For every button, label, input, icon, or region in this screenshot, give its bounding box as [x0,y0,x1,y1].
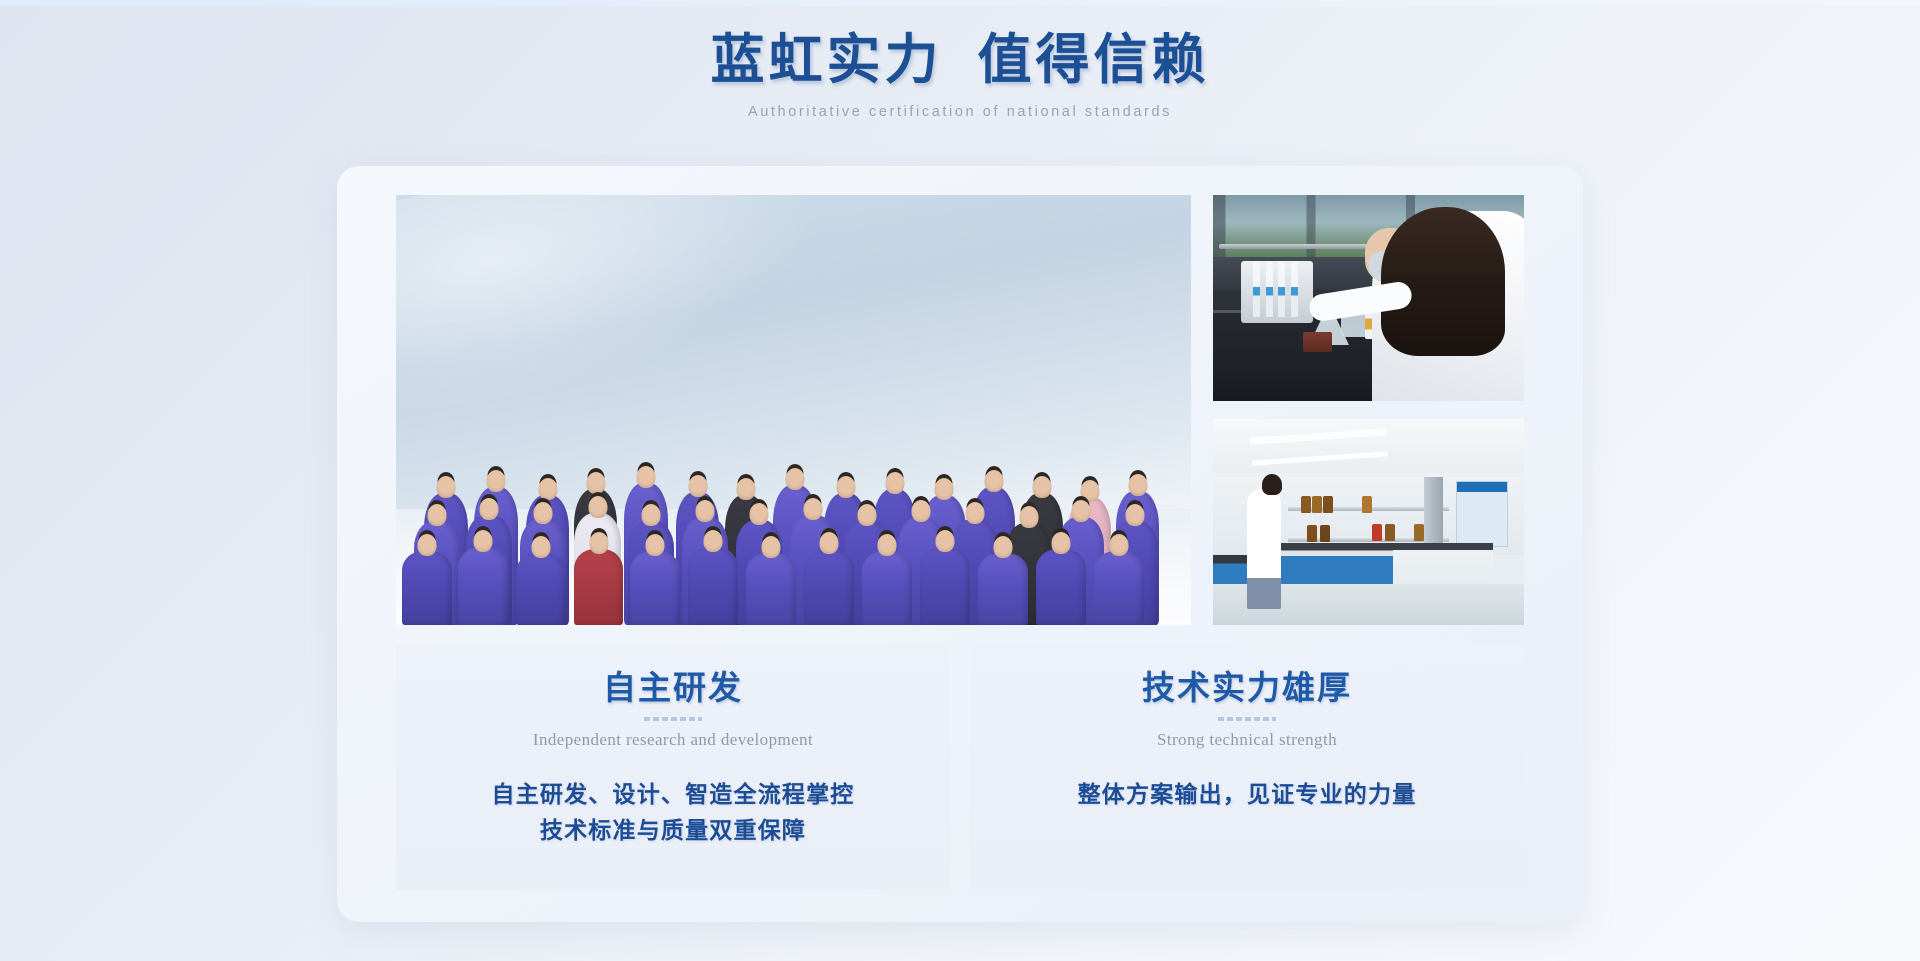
lab-photo-column [1213,195,1524,625]
feature-card-independent-rd[interactable]: 自主研发 Independent research and developmen… [396,645,950,890]
lab-photo-technician-image [1213,195,1524,401]
pipette [1253,261,1260,317]
lab-ceiling [1213,419,1524,477]
group-photo-image [396,195,1191,625]
feature-card-english-subtitle: Independent research and development [396,730,950,750]
media-gallery [396,195,1524,625]
lab-researcher [1247,489,1281,608]
pipette [1278,261,1285,317]
group-photo-people [396,195,1191,625]
feature-card-title: 自主研发 [396,667,950,711]
group-photo [396,195,1191,625]
dotted-divider [644,717,702,721]
page-subtitle: Authoritative certification of national … [0,104,1920,120]
feature-card-description: 自主研发、设计、智造全流程掌控 技术标准与质量双重保障 [396,777,950,849]
reagent-bottle [1316,332,1332,352]
pipette-rack [1241,261,1313,323]
feature-cards: 自主研发 Independent research and developmen… [396,645,1524,890]
pipette [1266,261,1273,317]
feature-card-technical-strength[interactable]: 技术实力雄厚 Strong technical strength 整体方案输出，… [970,645,1524,890]
lab-photo-technician [1213,195,1524,401]
page-title: 蓝虹实力 值得信赖 [0,26,1920,94]
lab-photo-room [1213,419,1524,625]
top-sheen-strip [0,0,1920,6]
safety-poster [1456,481,1509,547]
feature-card-title: 技术实力雄厚 [970,667,1524,711]
page-header: 蓝虹实力 值得信赖 Authoritative certification of… [0,26,1920,120]
feature-card-description: 整体方案输出，见证专业的力量 [970,777,1524,813]
pipette [1291,261,1298,317]
feature-card-english-subtitle: Strong technical strength [970,730,1524,750]
dotted-divider [1218,717,1276,721]
lab-photo-room-image [1213,419,1524,625]
